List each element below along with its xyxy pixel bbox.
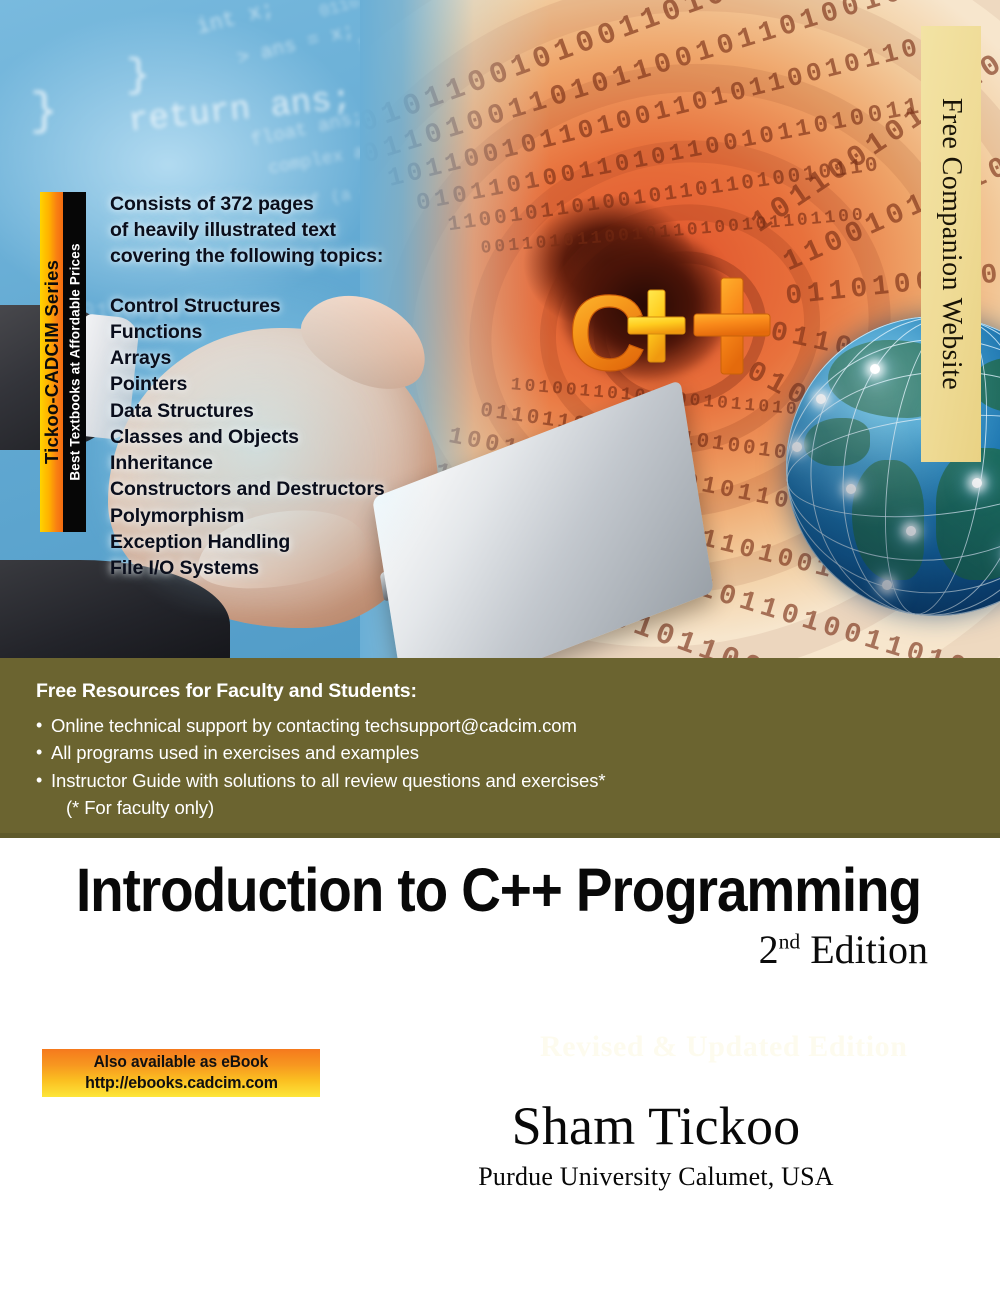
author-block: Sham Tickoo Purdue University Calumet, U… (396, 1098, 916, 1192)
topics-intro: Consists of 372 pages of heavily illustr… (110, 192, 530, 270)
topic-item: File I/O Systems (110, 555, 530, 581)
companion-website-label: Free Companion Website (935, 98, 967, 390)
resources-title: Free Resources for Faculty and Students: (36, 680, 1000, 703)
bullet-glyph: • (36, 712, 51, 739)
topics-intro-line: covering the following topics: (110, 244, 530, 270)
topic-item: Data Structures (110, 398, 530, 424)
series-tagline-strip: Best Textbooks at Affordable Prices (63, 192, 86, 532)
topic-item: Inheritance (110, 450, 530, 476)
ebook-badge-url: http://ebooks.cadcim.com (85, 1073, 278, 1093)
edition-ordinal: nd (779, 930, 801, 954)
resource-item: • All programs used in exercises and exa… (36, 739, 1000, 766)
topic-item: Arrays (110, 345, 530, 371)
topics-list: Control Structures Functions Arrays Poin… (110, 293, 530, 581)
code-snippet: } (30, 86, 58, 138)
revised-updated-ghost-text: Revised & Updated Edition (540, 1030, 908, 1064)
book-title: Introduction to C++ Programming (76, 860, 850, 921)
cover-artwork: } } return ans; int x; > ans = x; float … (0, 0, 1000, 658)
ebook-badge-line1: Also available as eBook (94, 1053, 269, 1072)
title-area: Introduction to C++ Programming 2nd Edit… (0, 838, 1000, 1301)
topic-item: Classes and Objects (110, 424, 530, 450)
resource-item-text: All programs used in exercises and examp… (51, 739, 419, 766)
bullet-glyph: • (36, 739, 51, 766)
code-snippet: } (126, 54, 150, 99)
resource-item-text: Instructor Guide with solutions to all r… (51, 767, 605, 794)
topics-intro-line: Consists of 372 pages (110, 192, 530, 218)
resource-item: • Online technical support by contacting… (36, 712, 1000, 739)
series-label: Tickoo-CADCIM Series (41, 260, 63, 464)
edition-number: 2 (759, 927, 779, 972)
code-snippet: int x; (194, 0, 277, 40)
topics-intro-line: of heavily illustrated text (110, 218, 530, 244)
cpp-logo: C (566, 272, 816, 396)
bullet-glyph: • (36, 767, 51, 794)
series-badge: Tickoo-CADCIM Series Best Textbooks at A… (40, 192, 86, 532)
free-resources-band: Free Resources for Faculty and Students:… (0, 658, 1000, 838)
topic-item: Exception Handling (110, 529, 530, 555)
topic-item: Pointers (110, 371, 530, 397)
series-tagline: Best Textbooks at Affordable Prices (67, 243, 82, 480)
series-name-strip: Tickoo-CADCIM Series (40, 192, 63, 532)
author-name: Sham Tickoo (396, 1098, 916, 1155)
topic-item: Polymorphism (110, 503, 530, 529)
ebook-badge[interactable]: Also available as eBook http://ebooks.ca… (42, 1049, 320, 1097)
topic-item: Functions (110, 319, 530, 345)
book-cover: } } return ans; int x; > ans = x; float … (0, 0, 1000, 1301)
topic-item: Constructors and Destructors (110, 476, 530, 502)
edition-label: 2nd Edition (759, 926, 928, 973)
resources-footnote: (* For faculty only) (36, 794, 1000, 821)
author-affiliation: Purdue University Calumet, USA (396, 1162, 916, 1192)
code-snippet: > ans = x; (235, 20, 357, 71)
topic-item: Control Structures (110, 293, 530, 319)
edition-word: Edition (810, 927, 928, 972)
resource-item-text: Online technical support by contacting t… (51, 712, 577, 739)
companion-website-strip: Free Companion Website (921, 26, 981, 462)
topics-block: Consists of 372 pages of heavily illustr… (110, 192, 530, 581)
resource-item: • Instructor Guide with solutions to all… (36, 767, 1000, 794)
